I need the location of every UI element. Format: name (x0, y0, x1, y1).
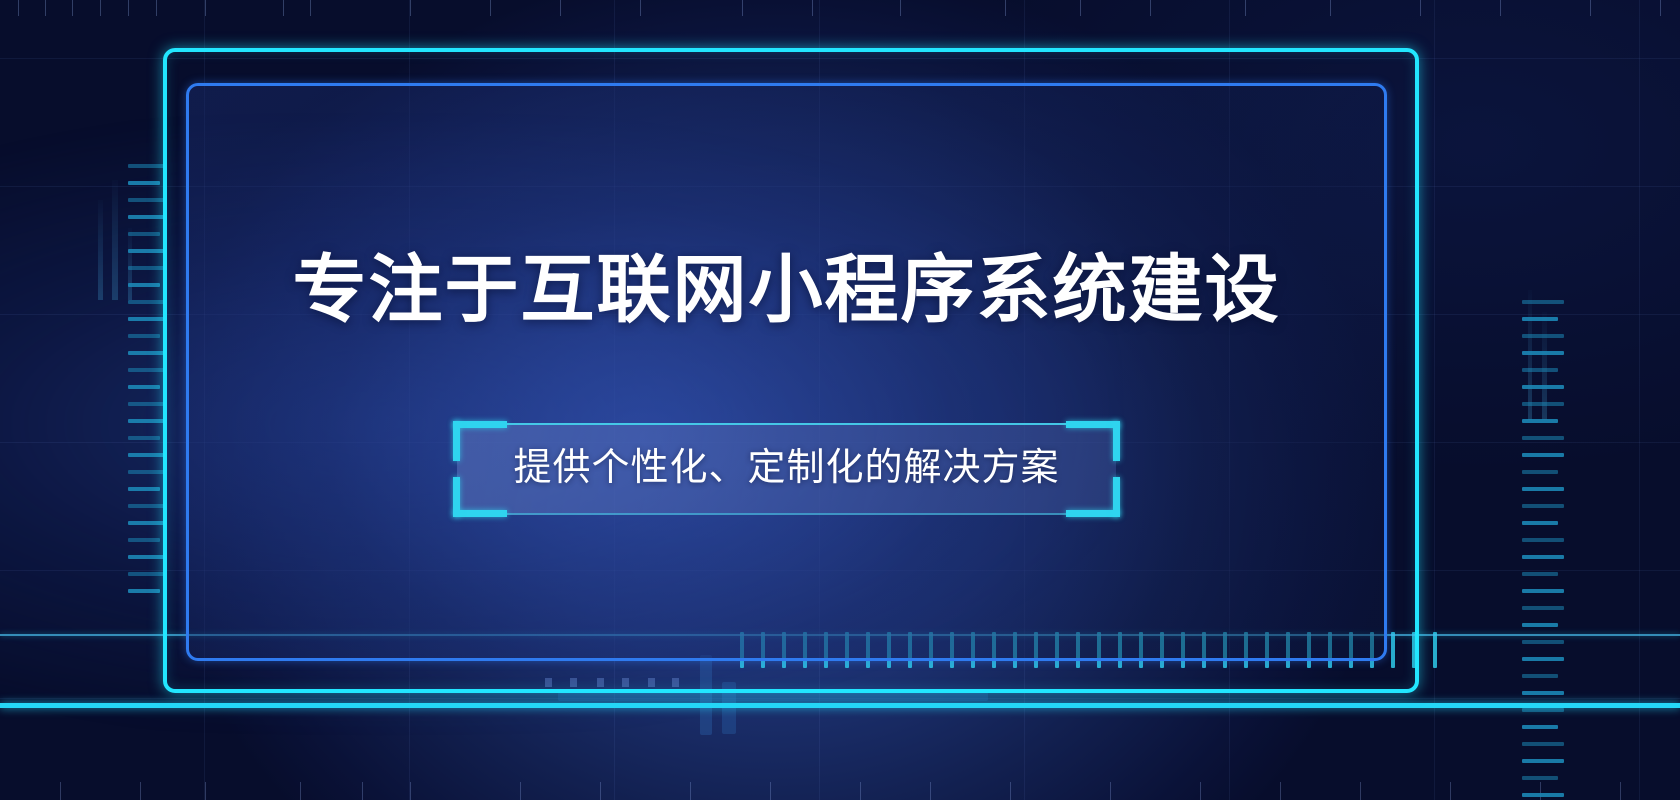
right-ladder-ticks (1522, 300, 1572, 800)
corner-bracket-bottom-left-icon (453, 477, 507, 517)
corner-bracket-top-right-icon (1066, 421, 1120, 461)
subtitle-text: 提供个性化、定制化的解决方案 (513, 449, 1059, 489)
corner-bracket-bottom-right-icon (1066, 477, 1120, 517)
decor-slab (558, 692, 988, 701)
top-tick-marks (0, 0, 1680, 22)
bottom-tick-marks (0, 774, 1680, 800)
subtitle-wrapper: 提供个性化、定制化的解决方案 (457, 423, 1115, 515)
decor-sweep-line (0, 703, 1680, 708)
corner-bracket-top-left-icon (453, 421, 507, 461)
page-title: 专注于互联网小程序系统建设 (293, 253, 1281, 327)
banner-content: 专注于互联网小程序系统建设 提供个性化、定制化的解决方案 (186, 83, 1387, 661)
banner-stage: 专注于互联网小程序系统建设 提供个性化、定制化的解决方案 (0, 0, 1680, 800)
subtitle-box: 提供个性化、定制化的解决方案 (457, 423, 1115, 515)
